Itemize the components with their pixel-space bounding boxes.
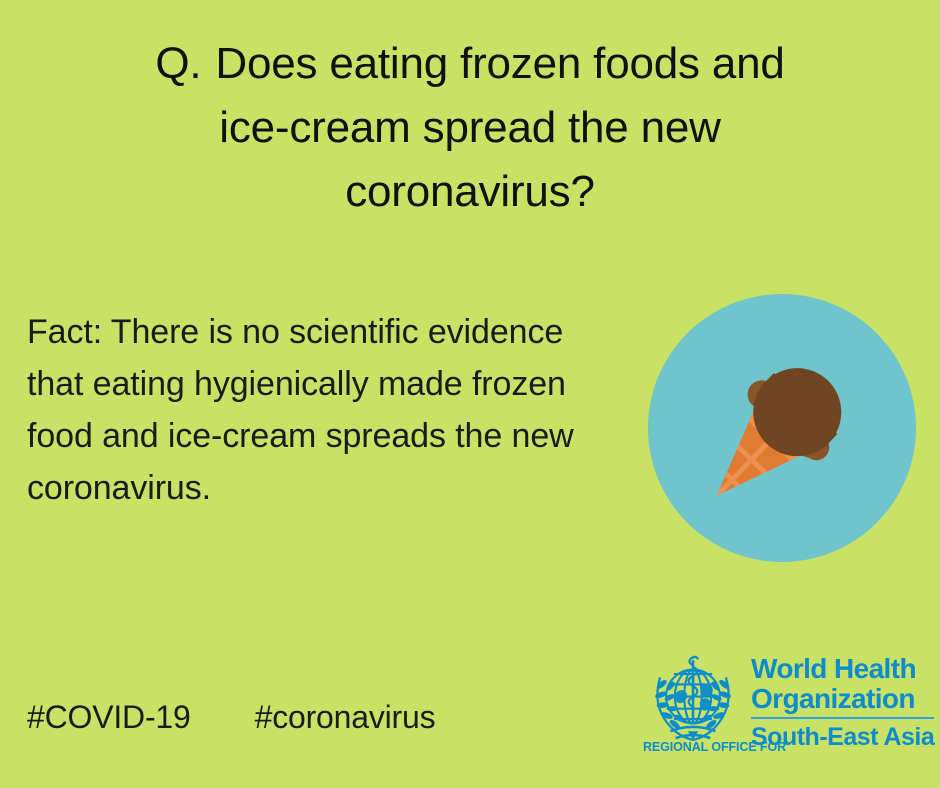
question-text: Does eating frozen foods and ice-cream s… [215, 39, 784, 216]
who-wordmark: World Health Organization South-East Asi… [751, 646, 934, 751]
who-wordmark-line1: World Health [751, 654, 934, 684]
ice-cream-illustration [648, 294, 916, 562]
ice-cream-cone-icon [648, 294, 916, 562]
question-prefix: Q. [155, 39, 215, 88]
fact-statement: Fact: There is no scientific evidence th… [27, 306, 607, 514]
who-region-kicker: REGIONAL OFFICE FOR [643, 740, 786, 754]
hashtag-covid19: #COVID-19 [27, 699, 191, 735]
covid-myth-buster-poster: Q.Does eating frozen foods and ice-cream… [0, 0, 940, 788]
page-title: Q.Does eating frozen foods and ice-cream… [0, 32, 940, 224]
who-divider [751, 717, 934, 719]
who-emblem-icon [641, 648, 745, 752]
hashtag-row: #COVID-19#coronavirus [27, 697, 435, 737]
who-logo: World Health Organization South-East Asi… [641, 646, 926, 758]
who-wordmark-line2: Organization [751, 684, 934, 714]
hashtag-coronavirus: #coronavirus [255, 699, 436, 735]
